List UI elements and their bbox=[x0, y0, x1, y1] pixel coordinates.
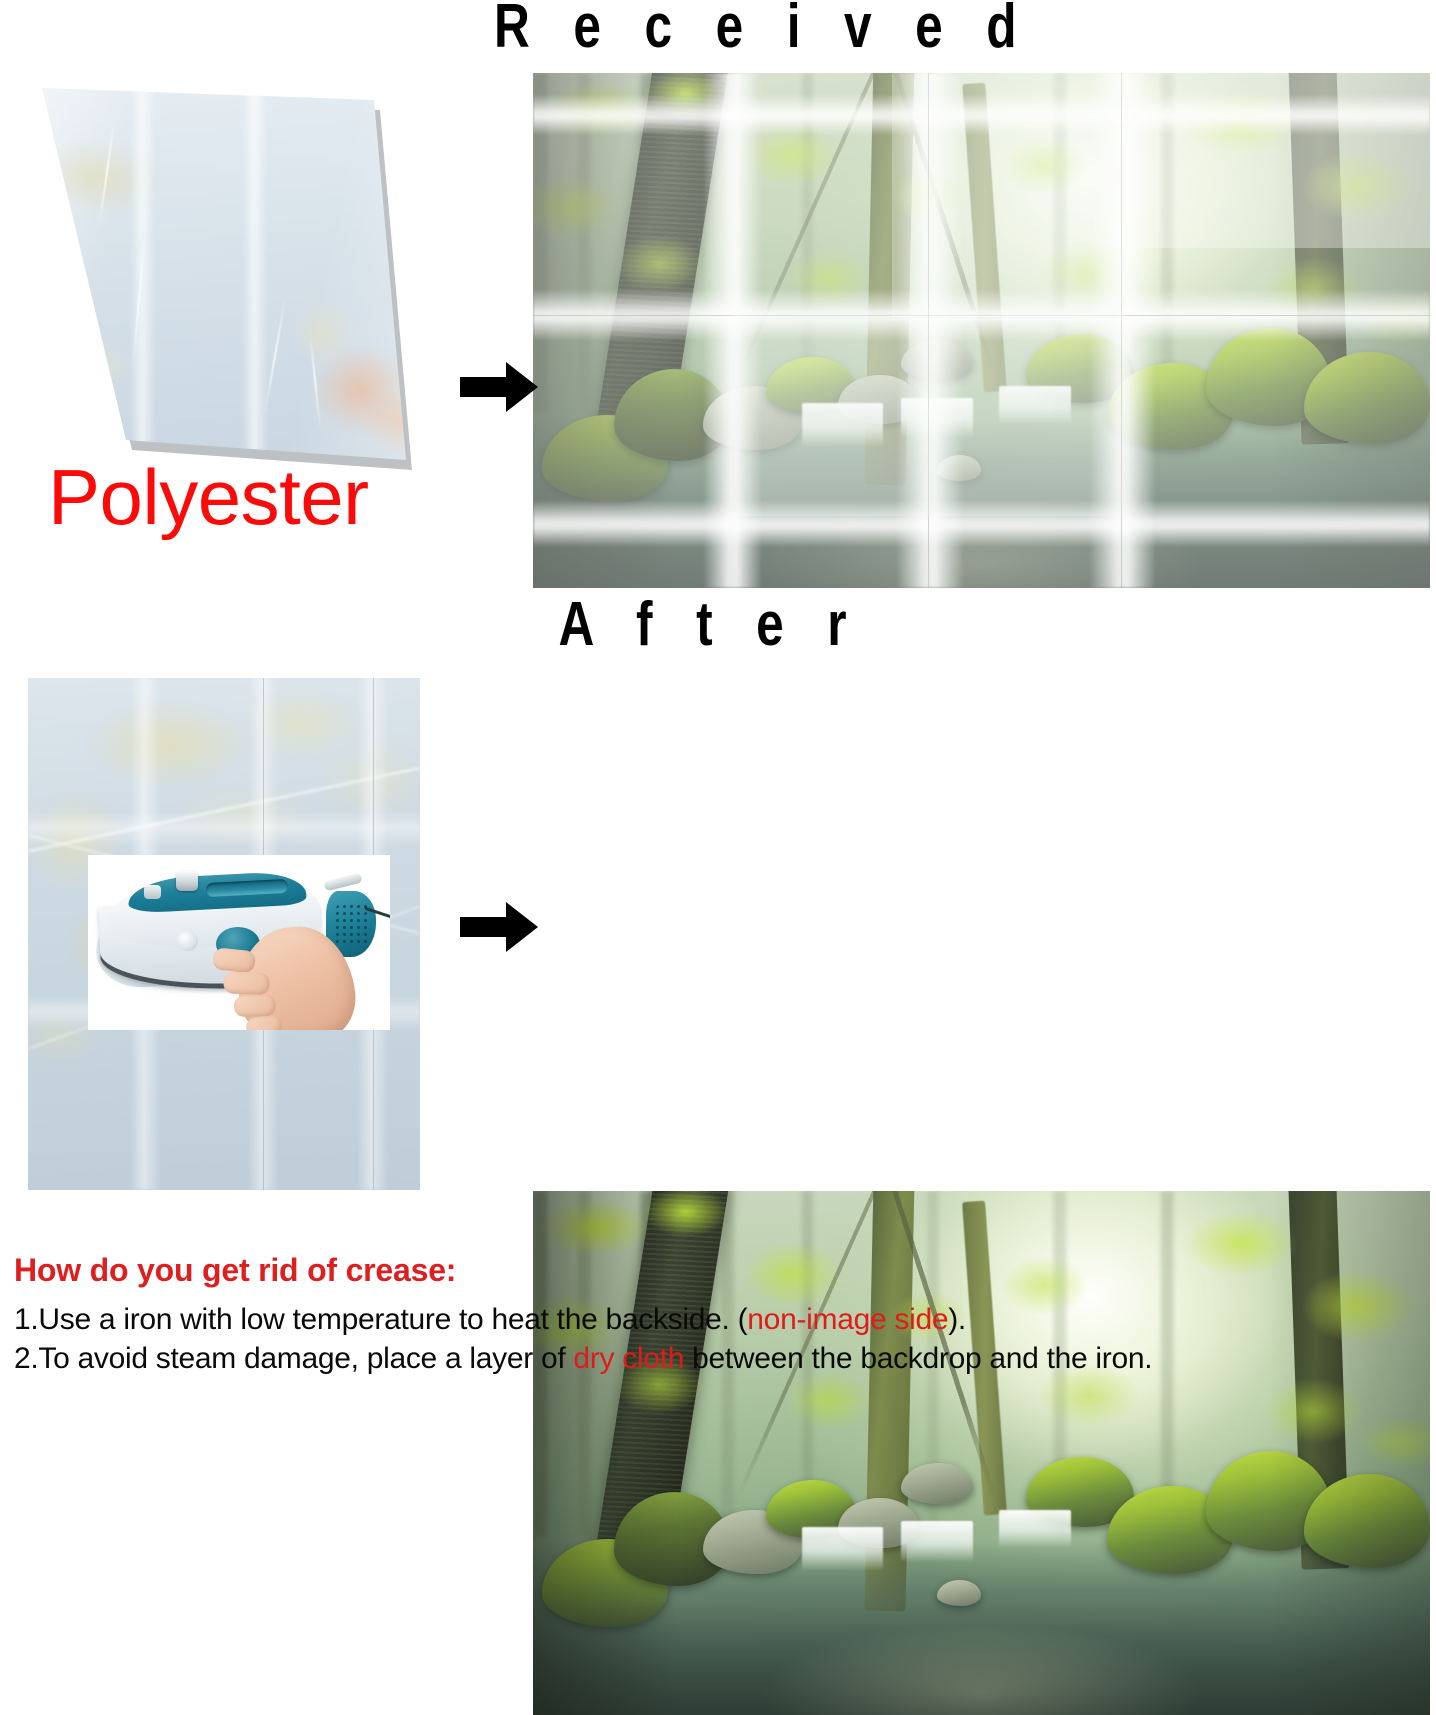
instruction-step-2-text-a: 2.To avoid steam damage, place a layer o… bbox=[14, 1342, 573, 1375]
after-heading: A f t e r bbox=[494, 594, 926, 656]
instructions-heading: How do you get rid of crease: bbox=[14, 1252, 1426, 1290]
received-heading: R e c e i v e d bbox=[494, 0, 926, 58]
instruction-step-1: 1.Use a iron with low temperature to hea… bbox=[14, 1300, 1426, 1339]
steam-iron-photo bbox=[88, 855, 390, 1030]
received-backdrop-photo bbox=[533, 73, 1430, 588]
swatch-fold-line-1 bbox=[130, 72, 156, 472]
forest-vignette bbox=[533, 73, 1430, 588]
folded-fabric-swatch bbox=[18, 72, 438, 492]
instructions-block: How do you get rid of crease: 1.Use a ir… bbox=[14, 1252, 1426, 1378]
fabric-fold-horizontal bbox=[28, 811, 420, 847]
swatch-wisp-3 bbox=[264, 297, 287, 416]
instruction-step-2: 2.To avoid steam damage, place a layer o… bbox=[14, 1339, 1426, 1378]
iron-cord-clip bbox=[323, 873, 362, 892]
polyester-material-label: Polyester bbox=[48, 458, 369, 536]
finger bbox=[234, 995, 277, 1017]
instruction-step-1-highlight: non-image side bbox=[747, 1303, 948, 1336]
instruction-step-1-text-a: 1.Use a iron with low temperature to hea… bbox=[14, 1303, 747, 1336]
instruction-step-1-text-b: ). bbox=[948, 1303, 966, 1336]
finger bbox=[245, 1015, 283, 1030]
instruction-step-2-text-b: between the backdrop and the iron. bbox=[684, 1342, 1152, 1375]
finger bbox=[223, 971, 270, 995]
arrow-right-icon-received bbox=[460, 360, 538, 414]
swatch-wisp-4 bbox=[309, 328, 322, 432]
iron-steam-knob bbox=[176, 871, 198, 891]
swatch-wisp-1 bbox=[98, 112, 117, 231]
swatch-fabric-surface bbox=[18, 72, 418, 472]
finger bbox=[212, 947, 256, 973]
arrow-right-icon-after bbox=[460, 900, 538, 954]
iron-burst-button bbox=[144, 885, 161, 899]
iron-spray-button bbox=[176, 931, 198, 951]
swatch-fold-line-2 bbox=[242, 72, 268, 472]
instruction-step-2-highlight: dry cloth bbox=[573, 1342, 684, 1375]
